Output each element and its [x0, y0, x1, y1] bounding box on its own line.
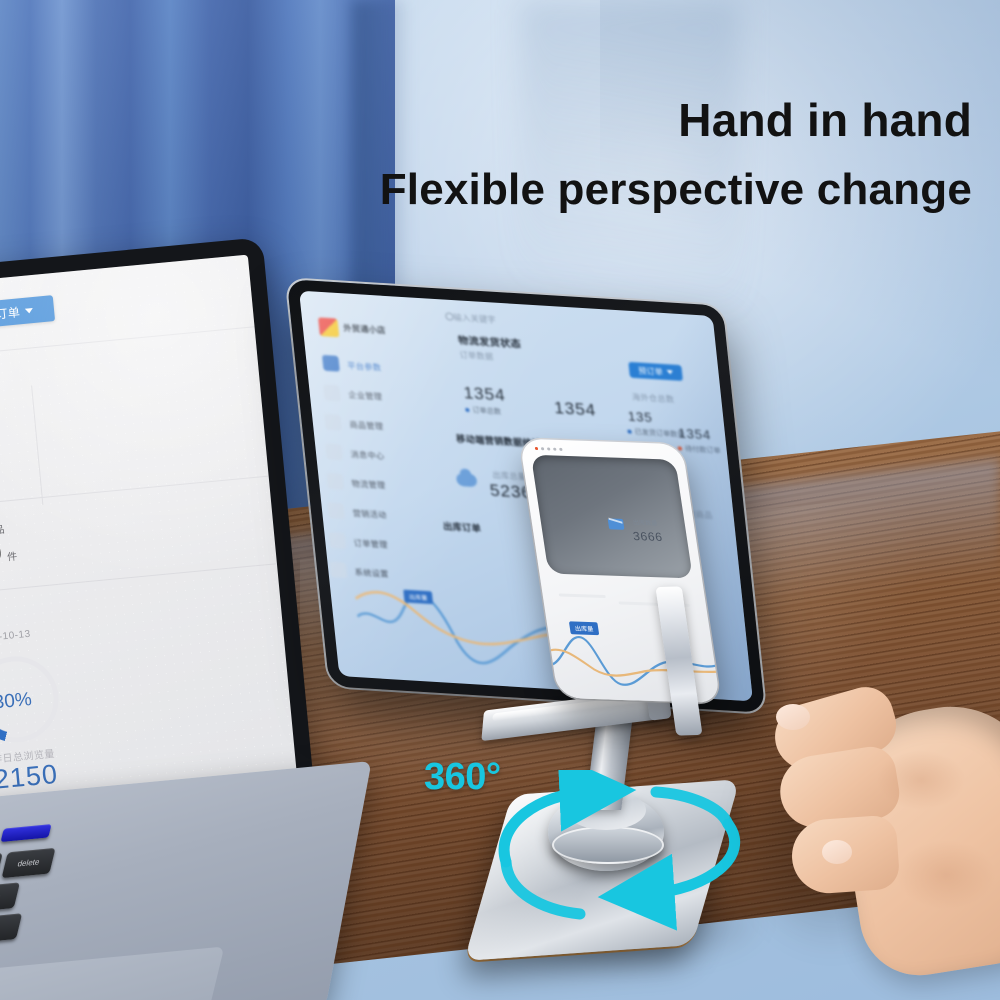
keyboard-row-2[interactable]: M < > ? shift — [0, 913, 22, 958]
phone-label: 出库数量 — [632, 517, 658, 527]
headline-block: Hand in hand Flexible perspective change — [380, 96, 972, 213]
hand — [756, 690, 1000, 1000]
status-dot-icon — [535, 447, 538, 450]
laptop-divider-2 — [0, 476, 269, 518]
phone-screen[interactable] — [531, 455, 693, 579]
fingernail-ring — [822, 840, 852, 864]
laptop-new-products-label: 新上架商品 — [0, 521, 6, 541]
fingernail-index — [776, 704, 810, 730]
product-marketing-image: Hand in hand Flexible perspective change… — [0, 0, 1000, 1000]
laptop-new-products-unit: 件 — [6, 548, 18, 564]
headline-line-1: Hand in hand — [380, 96, 972, 146]
conversion-donut-chart — [0, 653, 62, 747]
laptop-device: 预订单 35 可通海外仓数量 1354 海外仓总数 新上架商品 210 件 转化… — [0, 237, 316, 849]
status-dot-icon — [553, 448, 556, 451]
conversion-percent: 30% — [0, 689, 33, 714]
headline-line-2: Flexible perspective change — [380, 166, 972, 214]
laptop-divider-3 — [0, 563, 277, 605]
chevron-down-icon — [25, 308, 33, 314]
laptop-screen: 预订单 35 可通海外仓数量 1354 海外仓总数 新上架商品 210 件 转化… — [0, 255, 298, 826]
status-dot-icon — [541, 447, 544, 450]
laptop-new-products-value: 210 — [0, 537, 4, 572]
laptop-conversion-date: 2018-10-13 — [0, 629, 31, 645]
laptop-views-value: 2150 — [0, 759, 59, 796]
laptop-order-button-label: 预订单 — [0, 303, 21, 323]
mail-icon — [608, 518, 625, 529]
laptop-divider-vertical — [31, 385, 43, 505]
laptop-order-button[interactable]: 预订单 — [0, 295, 55, 330]
conversion-donut-track — [0, 653, 62, 747]
rotation-arrow-icon — [470, 770, 770, 950]
laptop-divider — [0, 326, 255, 368]
laptop-views-label: 昨日总浏览量 — [0, 745, 55, 766]
laptop-screen-texture — [0, 255, 298, 826]
status-dot-icon — [547, 447, 550, 450]
key-delete[interactable]: delete — [2, 848, 56, 878]
knuckle-shading-2 — [896, 840, 996, 910]
status-dot-icon — [559, 448, 562, 451]
knuckle-shading-1 — [876, 750, 966, 810]
phone-value: 3666 — [632, 529, 664, 544]
key-shift[interactable]: shift — [0, 913, 22, 944]
key-return[interactable]: return — [0, 882, 20, 913]
